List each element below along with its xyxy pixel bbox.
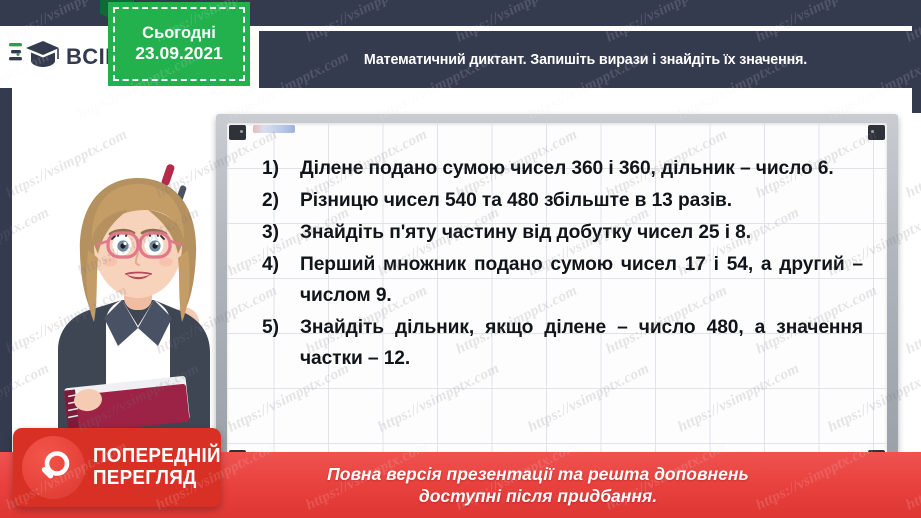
task-text: Знайдіть п'яту частину від добутку чисел… (300, 217, 863, 248)
teacher-illustration (18, 150, 248, 450)
header-right-strip (912, 0, 921, 113)
task-list: 1) Ділене подано сумою чисел 360 і 360, … (262, 153, 863, 374)
task-number: 3) (262, 217, 300, 248)
date-value: 23.09.2021 (135, 43, 223, 65)
purchase-banner-line2: доступні після придбання. (419, 486, 657, 506)
whiteboard-corner-bracket (868, 125, 885, 140)
task-text: Різницю чисел 540 та 480 збільште в 13 р… (300, 185, 863, 216)
magnifier-icon (22, 436, 85, 499)
date-label: Сьогодні (142, 23, 216, 44)
preview-badge-labels: ПОПЕРЕДНІЙ ПЕРЕГЛЯД (93, 446, 229, 488)
preview-badge-line1: ПОПЕРЕДНІЙ (93, 446, 221, 467)
task-text: Перший множник подано сумою чисел 17 і 5… (300, 249, 863, 311)
task-text: Ділене подано сумою чисел 360 і 360, діл… (300, 153, 863, 184)
task-number: 2) (262, 185, 300, 216)
task-number: 1) (262, 153, 300, 184)
task-number: 5) (262, 312, 300, 343)
preview-badge-line2: ПЕРЕГЛЯД (93, 468, 221, 489)
left-navy-edge (0, 88, 12, 452)
whiteboard-marker (253, 125, 295, 133)
slide-root: Математичний диктант. Запишіть вирази і … (0, 0, 921, 518)
purchase-banner-line1: Повна версія презентації та решта доповн… (327, 464, 749, 484)
list-item: 3) Знайдіть п'яту частину від добутку чи… (262, 217, 863, 248)
list-item: 2) Різницю чисел 540 та 480 збільште в 1… (262, 185, 863, 216)
preview-badge[interactable]: ПОПЕРЕДНІЙ ПЕРЕГЛЯД (13, 428, 221, 507)
watermark-text: https://vsimpptx.com (903, 127, 921, 203)
purchase-banner-text: Повна версія презентації та решта доповн… (327, 463, 749, 508)
list-item: 5) Знайдіть дільник, якщо ділене – число… (262, 312, 863, 374)
list-item: 4) Перший множник подано сумою чисел 17 … (262, 249, 863, 311)
graduation-cap-icon (9, 35, 61, 80)
task-text: Знайдіть дільник, якщо ділене – число 48… (300, 312, 863, 374)
whiteboard: 1) Ділене подано сумою чисел 360 і 360, … (216, 114, 898, 476)
list-item: 1) Ділене подано сумою чисел 360 і 360, … (262, 153, 863, 184)
header-bar: Математичний диктант. Запишіть вирази і … (259, 31, 912, 88)
header-white-gap (259, 26, 912, 31)
whiteboard-surface: 1) Ділене подано сумою чисел 360 і 360, … (227, 123, 887, 467)
date-badge: Сьогодні 23.09.2021 (108, 2, 250, 86)
task-list-container: 1) Ділене подано сумою чисел 360 і 360, … (262, 153, 863, 375)
task-number: 4) (262, 249, 300, 280)
watermark-text: https://vsimpptx.com (903, 283, 921, 359)
whiteboard-corner-bracket (229, 125, 246, 140)
page-title: Математичний диктант. Запишіть вирази і … (364, 52, 807, 68)
